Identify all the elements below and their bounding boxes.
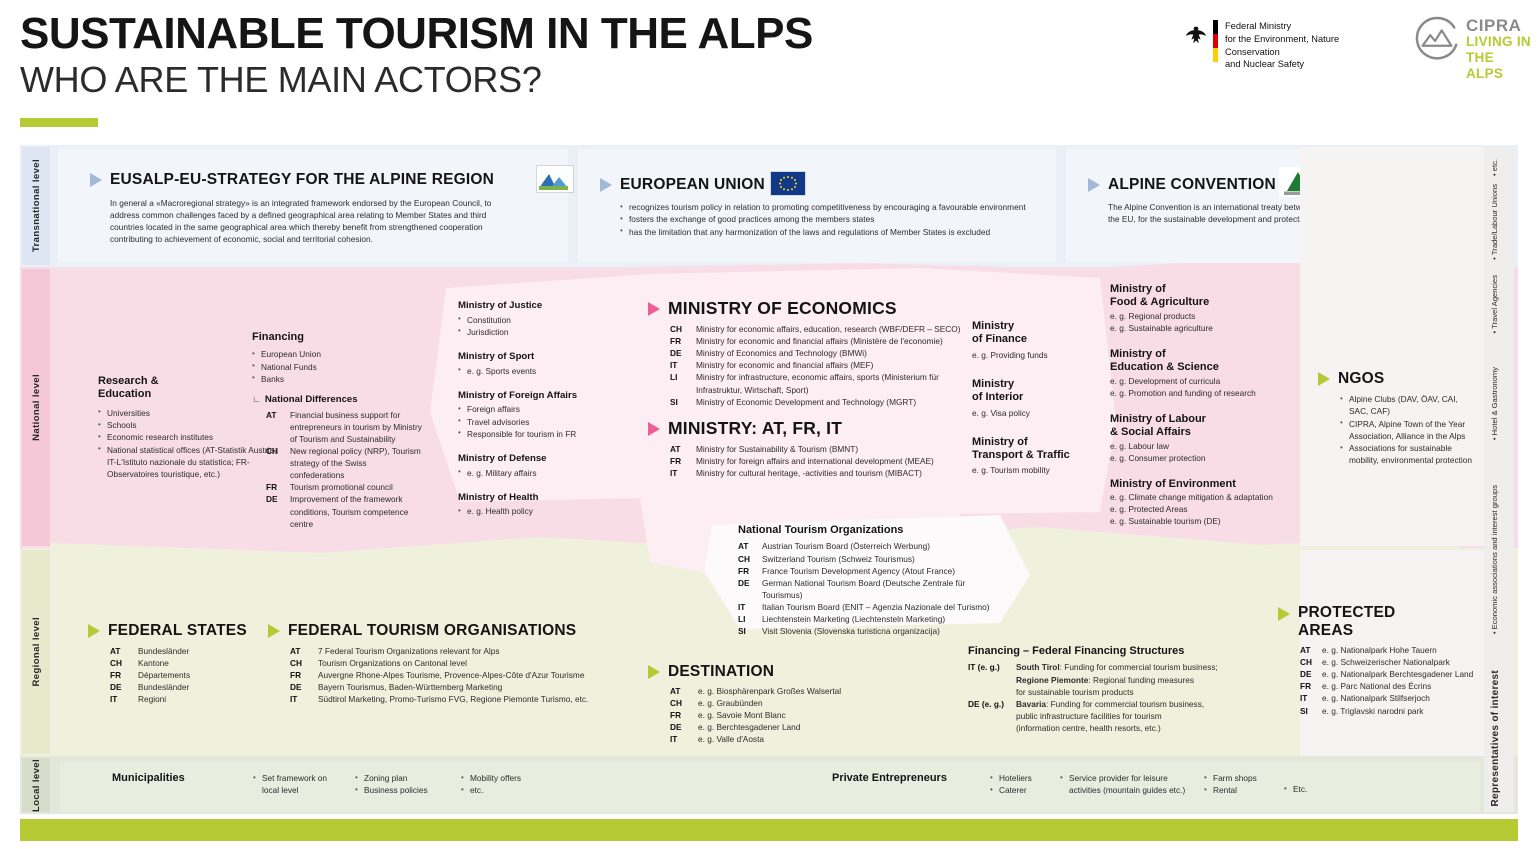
ministry-title: Ministry of Environment bbox=[1110, 478, 1290, 491]
country-text: Italian Tourism Board (ENIT – Agenzia Na… bbox=[762, 601, 998, 613]
ministry-block: Ministry of Interior e. g. Visa policy bbox=[972, 378, 1102, 419]
cipra-mountain-ring-icon bbox=[1412, 16, 1460, 64]
country-text: e. g. Valle d'Aosta bbox=[698, 733, 878, 745]
country-text: Südtirol Marketing, Promo-Turismo FVG, R… bbox=[318, 693, 598, 705]
country-code: AT bbox=[1300, 644, 1322, 656]
table-row: DEe. g. Berchtesgadener Land bbox=[670, 721, 878, 733]
german-flag-bar-icon bbox=[1213, 20, 1218, 62]
ministry-block: Ministry of Environment e. g. Climate ch… bbox=[1110, 478, 1290, 527]
bmu-line3: and Nuclear Safety bbox=[1225, 58, 1385, 71]
ministry-economics-title: MINISTRY OF ECONOMICS bbox=[668, 298, 897, 319]
country-text: Ministry for Sustainability & Tourism (B… bbox=[696, 443, 968, 455]
list-item: Hoteliers bbox=[990, 772, 1042, 784]
ministry-note: e. g. Tourism mobility bbox=[972, 464, 1102, 476]
panel-municipalities: Municipalities Set framework on local le… bbox=[112, 772, 541, 797]
level-tab-transnational: Transnational level bbox=[22, 147, 50, 265]
country-code bbox=[968, 710, 1016, 722]
sidebar-item-etc: • etc. bbox=[1490, 159, 1499, 176]
ministry-note: e. g. Providing funds bbox=[972, 349, 1102, 361]
nto-title: National Tourism Organizations bbox=[738, 524, 998, 537]
table-row: FRDépartements bbox=[110, 669, 268, 681]
ngos-bullets: Alpine Clubs (DAV, ÖAV, CAI, SAC, CAF) C… bbox=[1340, 393, 1478, 467]
table-row: SIMinistry of Economic Development and T… bbox=[670, 396, 968, 408]
table-row: FRAuvergne Rhone-Alpes Tourisme, Provenc… bbox=[290, 669, 598, 681]
financing-differences-title: National Differences bbox=[265, 394, 358, 406]
ministry-note: e. g. Visa policy bbox=[972, 407, 1102, 419]
ministry-note: e. g. Consumer protection bbox=[1110, 452, 1290, 464]
table-row: ATMinistry for Sustainability & Tourism … bbox=[670, 443, 968, 455]
list-item: Zoning plan bbox=[355, 772, 435, 784]
panel-ministry-at-fr-it: MINISTRY: AT, FR, IT ATMinistry for Sust… bbox=[648, 418, 968, 479]
ministry-block: Ministry of Foreign Affairs Foreign affa… bbox=[458, 390, 633, 440]
list-item: Alpine Clubs (DAV, ÖAV, CAI, SAC, CAF) bbox=[1340, 393, 1478, 418]
page-title: SUSTAINABLE TOURISM IN THE ALPS bbox=[20, 12, 813, 56]
municipalities-col-2: Zoning plan Business policies bbox=[355, 772, 435, 797]
ministry-note: e. g. Climate change mitigation & adapta… bbox=[1110, 491, 1290, 503]
country-code: CH bbox=[110, 657, 138, 669]
table-row: FRe. g. Savoie Mont Blanc bbox=[670, 709, 878, 721]
table-row: CHSwitzerland Tourism (Schweiz Tourismus… bbox=[738, 553, 998, 565]
panel-ngos-bg bbox=[1300, 147, 1484, 546]
country-code: CH bbox=[738, 553, 762, 565]
table-row: DEBundesländer bbox=[110, 681, 268, 693]
country-code: FR bbox=[670, 455, 696, 467]
list-item: etc. bbox=[461, 784, 541, 796]
country-text: : Funding for commercial tourism busines… bbox=[1046, 699, 1204, 709]
table-row: CHe. g. Graubünden bbox=[670, 697, 878, 709]
country-code: CH bbox=[1300, 656, 1322, 668]
country-text: German National Tourism Board (Deutsche … bbox=[762, 577, 998, 601]
list-item: has the limitation that any harmonizatio… bbox=[620, 226, 1040, 238]
private-col-2: Service provider for leisure activities … bbox=[1060, 772, 1186, 797]
financing-lead: Bavaria bbox=[1016, 699, 1046, 709]
list-item: National Funds bbox=[252, 361, 422, 373]
ministry-block: Ministry of Transport & Traffic e. g. To… bbox=[972, 436, 1102, 477]
country-text: New regional policy (NRP), Tourism strat… bbox=[290, 445, 422, 481]
country-code: DE bbox=[670, 721, 698, 733]
country-text: : Funding for commercial tourism busines… bbox=[1060, 662, 1218, 672]
destination-title: DESTINATION bbox=[668, 663, 774, 681]
triangle-marker-icon bbox=[1088, 178, 1100, 192]
page-subtitle: WHO ARE THE MAIN ACTORS? bbox=[20, 62, 542, 98]
sidebar-item-hotel-gastronomy: • Hotel & Gastronomy bbox=[1490, 367, 1499, 440]
ministry-block: Ministry of Food & Agriculture e. g. Reg… bbox=[1110, 283, 1290, 334]
country-text: Visit Slovenia (Slovenska turisticna org… bbox=[762, 625, 998, 637]
panel-federal-states: FEDERAL STATES ATBundesländer CHKantone … bbox=[88, 622, 268, 706]
country-text: Bundesländer bbox=[138, 645, 268, 657]
country-code: IT bbox=[670, 733, 698, 745]
table-row: IT (e. g.) South Tirol: Funding for comm… bbox=[968, 661, 1258, 673]
footer-accent-bar bbox=[20, 819, 1518, 841]
table-row: Regione Piemonte: Regional funding measu… bbox=[968, 674, 1258, 686]
country-text: (information centre, health resorts, etc… bbox=[1016, 722, 1258, 734]
table-row: FRMinistry for economic and financial af… bbox=[670, 335, 968, 347]
country-code: SI bbox=[1300, 705, 1322, 717]
triangle-marker-icon bbox=[268, 624, 280, 638]
country-text: e. g. Savoie Mont Blanc bbox=[698, 709, 878, 721]
ministry-title: Ministry of Transport & Traffic bbox=[972, 436, 1102, 463]
country-code: DE (e. g.) bbox=[968, 698, 1016, 710]
country-code: FR bbox=[670, 335, 696, 347]
protected-areas-title: PROTECTED AREAS bbox=[1298, 604, 1395, 640]
country-code: AT bbox=[266, 409, 290, 445]
ministry-note: e. g. Sustainable tourism (DE) bbox=[1110, 515, 1290, 527]
table-row: LIMinistry for infrastructure, economic … bbox=[670, 371, 968, 395]
triangle-marker-icon bbox=[90, 173, 102, 187]
ministry-block: Ministry of Finance e. g. Providing fund… bbox=[972, 320, 1102, 361]
private-col-1: Hoteliers Caterer bbox=[990, 772, 1042, 797]
country-text: Liechtenstein Marketing (Liechtensteln M… bbox=[762, 613, 998, 625]
bmu-line2: for the Environment, Nature Conservation bbox=[1225, 33, 1385, 59]
table-row: CHMinistry for economic affairs, educati… bbox=[670, 323, 968, 335]
page-header: SUSTAINABLE TOURISM IN THE ALPS WHO ARE … bbox=[0, 0, 1538, 140]
level-tab-national-label: National level bbox=[31, 374, 42, 441]
ministry-note: e. g. Development of curricula bbox=[1110, 375, 1290, 387]
eu-flag-icon bbox=[770, 171, 806, 196]
table-row: FRFrance Tourism Development Agency (Ato… bbox=[738, 565, 998, 577]
eusalp-logo-icon bbox=[536, 165, 574, 193]
ministry-title: Ministry of Food & Agriculture bbox=[1110, 283, 1290, 310]
country-code: IT bbox=[1300, 692, 1322, 704]
level-tab-regional: Regional level bbox=[22, 550, 50, 754]
financing-lead: South Tirol bbox=[1016, 662, 1060, 672]
sidebar-item-economic-associations: • Economic associations and interest gro… bbox=[1490, 485, 1499, 634]
country-code: FR bbox=[1300, 680, 1322, 692]
sidebar-title: Representatives of interest bbox=[1490, 670, 1501, 806]
country-text: Ministry for economic and financial affa… bbox=[696, 335, 968, 347]
list-item: Farm shops bbox=[1204, 772, 1266, 784]
country-text: Kantone bbox=[138, 657, 268, 669]
country-text: e. g. Graubünden bbox=[698, 697, 878, 709]
country-code: DE bbox=[110, 681, 138, 693]
list-item: Banks bbox=[252, 373, 422, 385]
table-row: AT7 Federal Tourism Organizations releva… bbox=[290, 645, 598, 657]
list-item: Rental bbox=[1204, 784, 1266, 796]
table-row: ATAustrian Tourism Board (Österreich Wer… bbox=[738, 540, 998, 552]
country-text: Ministry for foreign affairs and interna… bbox=[696, 455, 968, 467]
triangle-marker-icon bbox=[648, 665, 660, 679]
list-item: Etc. bbox=[1284, 783, 1324, 795]
title-accent-rule bbox=[20, 118, 98, 127]
country-code: SI bbox=[738, 625, 762, 637]
ministry-title: Ministry of Education & Science bbox=[1110, 348, 1290, 375]
table-row: ITMinistry for economic and financial af… bbox=[670, 359, 968, 371]
country-code: DE bbox=[290, 681, 318, 693]
municipalities-col-3: Mobility offers etc. bbox=[461, 772, 541, 797]
country-code: DE bbox=[1300, 668, 1322, 680]
table-row: for sustainable tourism products bbox=[968, 686, 1258, 698]
panel-federal-tourism-orgs: FEDERAL TOURISM ORGANISATIONS AT7 Federa… bbox=[268, 622, 598, 706]
country-text: Tourism promotional council bbox=[290, 481, 422, 493]
list-item: fosters the exchange of good practices a… bbox=[620, 213, 1040, 225]
panel-ministry-economics: MINISTRY OF ECONOMICS CHMinistry for eco… bbox=[648, 298, 968, 408]
triangle-marker-icon bbox=[648, 422, 660, 436]
country-text: France Tourism Development Agency (Atout… bbox=[762, 565, 998, 577]
table-row: FR Tourism promotional council bbox=[266, 481, 422, 493]
country-code: CH bbox=[670, 323, 696, 335]
cipra-logo: CIPRA LIVING IN THE ALPS bbox=[1412, 12, 1532, 72]
triangle-marker-icon bbox=[1318, 372, 1330, 386]
list-item: Business policies bbox=[355, 784, 435, 796]
country-text: e. g. Nationalpark Stilfserjoch bbox=[1322, 692, 1488, 704]
financing-bullets: European Union National Funds Banks bbox=[252, 348, 422, 385]
table-row: SIVisit Slovenia (Slovenska turisticna o… bbox=[738, 625, 998, 637]
country-code: AT bbox=[290, 645, 318, 657]
cipra-tagline-2: THE ALPS bbox=[1466, 50, 1532, 82]
private-col-3: Farm shops Rental bbox=[1204, 772, 1266, 797]
country-code: IT bbox=[290, 693, 318, 705]
list-item: Jurisdiction bbox=[458, 326, 633, 338]
list-item: e. g. Health policy bbox=[458, 505, 633, 517]
ngos-title: NGOS bbox=[1338, 370, 1384, 388]
level-tab-national: National level bbox=[22, 269, 50, 546]
triangle-marker-icon bbox=[1278, 607, 1290, 621]
ministry-block: Ministry of Defense e. g. Military affai… bbox=[458, 453, 633, 479]
german-federal-eagle-icon bbox=[1185, 23, 1207, 47]
country-text: for sustainable tourism products bbox=[1016, 686, 1258, 698]
list-item: e. g. Military affairs bbox=[458, 467, 633, 479]
list-item: Set framework on local level bbox=[253, 772, 329, 797]
triangle-marker-icon bbox=[600, 178, 612, 192]
country-text: Départements bbox=[138, 669, 268, 681]
municipalities-title: Municipalities bbox=[112, 772, 227, 785]
list-item: CIPRA, Alpine Town of the Year Associati… bbox=[1340, 418, 1478, 443]
country-code: AT bbox=[670, 443, 696, 455]
country-code: IT bbox=[670, 359, 696, 371]
list-item: Mobility offers bbox=[461, 772, 541, 784]
country-text: e. g. Nationalpark Berchtesgadener Land bbox=[1322, 668, 1488, 680]
financing-title: Financing bbox=[252, 331, 422, 344]
private-col-4: Etc. bbox=[1284, 783, 1324, 795]
country-code: FR bbox=[738, 565, 762, 577]
panel-ngos: NGOS Alpine Clubs (DAV, ÖAV, CAI, SAC, C… bbox=[1318, 370, 1478, 467]
country-code: FR bbox=[110, 669, 138, 681]
table-row: CHKantone bbox=[110, 657, 268, 669]
table-row: DEe. g. Nationalpark Berchtesgadener Lan… bbox=[1300, 668, 1488, 680]
table-row: DEMinistry of Economics and Technology (… bbox=[670, 347, 968, 359]
level-tab-transnational-label: Transnational level bbox=[31, 159, 42, 252]
ministry-note: e. g. Sustainable agriculture bbox=[1110, 322, 1290, 334]
list-item: e. g. Sports events bbox=[458, 365, 633, 377]
list-item: Caterer bbox=[990, 784, 1042, 796]
table-row: ATBundesländer bbox=[110, 645, 268, 657]
country-code: DE bbox=[266, 493, 290, 529]
table-row: DE (e. g.) Bavaria: Funding for commerci… bbox=[968, 698, 1258, 710]
table-row: ITe. g. Nationalpark Stilfserjoch bbox=[1300, 692, 1488, 704]
table-row: ITMinistry for cultural heritage, -activ… bbox=[670, 467, 968, 479]
ministry-title: Ministry of Health bbox=[458, 492, 633, 504]
country-text: Ministry of Economic Development and Tec… bbox=[696, 396, 968, 408]
country-text: Bundesländer bbox=[138, 681, 268, 693]
table-row: public infrastructure facilities for tou… bbox=[968, 710, 1258, 722]
country-code: FR bbox=[670, 709, 698, 721]
ministry-title: Ministry of Defense bbox=[458, 453, 633, 465]
country-text: e. g. Schweizerischer Nationalpark bbox=[1322, 656, 1488, 668]
bmu-logo-text: Federal Ministry for the Environment, Na… bbox=[1225, 20, 1385, 71]
table-row: ITSüdtirol Marketing, Promo-Turismo FVG,… bbox=[290, 693, 598, 705]
country-code: CH bbox=[670, 697, 698, 709]
table-row: FRe. g. Parc National des Écrins bbox=[1300, 680, 1488, 692]
table-row: ATe. g. Nationalpark Hohe Tauern bbox=[1300, 644, 1488, 656]
country-text: : Regional funding measures bbox=[1088, 675, 1194, 685]
panel-european-union: EUROPEAN UNION recognizes tourism policy… bbox=[578, 149, 1056, 263]
country-text: Ministry for infrastructure, economic af… bbox=[696, 371, 968, 395]
ministry-title: Ministry of Foreign Affairs bbox=[458, 390, 633, 402]
panel-private-entrepreneurs: Private Entrepreneurs Hoteliers Caterer … bbox=[832, 772, 1324, 797]
panel-small-ministries: Ministry of Justice Constitution Jurisdi… bbox=[458, 300, 633, 518]
sidebar-item-trade-unions: • Trade/Labour Unions bbox=[1490, 184, 1499, 260]
ministry-block: Ministry of Sport e. g. Sports events bbox=[458, 351, 633, 377]
bmu-logo: Federal Ministry for the Environment, Na… bbox=[1185, 16, 1385, 66]
country-text: Bayern Tourismus, Baden-Württemberg Mark… bbox=[318, 681, 598, 693]
country-code: IT bbox=[670, 467, 696, 479]
ministry-title: Ministry of Sport bbox=[458, 351, 633, 363]
list-item: European Union bbox=[252, 348, 422, 360]
level-tab-regional-label: Regional level bbox=[31, 617, 42, 686]
country-text: 7 Federal Tourism Organizations relevant… bbox=[318, 645, 598, 657]
country-text: e. g. Berchtesgadener Land bbox=[698, 721, 878, 733]
country-code: CH bbox=[290, 657, 318, 669]
country-code: FR bbox=[290, 669, 318, 681]
ministry-note: e. g. Labour law bbox=[1110, 440, 1290, 452]
country-text: Financial business support for entrepren… bbox=[290, 409, 422, 445]
table-row: DEGerman National Tourism Board (Deutsch… bbox=[738, 577, 998, 601]
private-entrepreneurs-title: Private Entrepreneurs bbox=[832, 772, 972, 785]
table-row: (information centre, health resorts, etc… bbox=[968, 722, 1258, 734]
ministry-note: e. g. Protected Areas bbox=[1110, 503, 1290, 515]
ministry-block: Ministry of Education & Science e. g. De… bbox=[1110, 348, 1290, 399]
country-text: Ministry of Economics and Technology (BM… bbox=[696, 347, 968, 359]
country-text: Auvergne Rhone-Alpes Tourisme, Provence-… bbox=[318, 669, 598, 681]
ministry-title: Ministry of Interior bbox=[972, 378, 1102, 405]
country-text: Switzerland Tourism (Schweiz Tourismus) bbox=[762, 553, 998, 565]
country-code bbox=[968, 722, 1016, 734]
panel-middle-ministries: Ministry of Finance e. g. Providing fund… bbox=[972, 320, 1102, 476]
federal-states-title: FEDERAL STATES bbox=[108, 622, 247, 640]
municipalities-col-1: Set framework on local level bbox=[253, 772, 329, 797]
table-row: DEBayern Tourismus, Baden-Württemberg Ma… bbox=[290, 681, 598, 693]
panel-financing: Financing European Union National Funds … bbox=[252, 331, 422, 530]
ministry-note: e. g. Regional products bbox=[1110, 310, 1290, 322]
country-text: e. g. Triglavski narodni park bbox=[1322, 705, 1488, 717]
list-item: Associations for sustainable mobility, e… bbox=[1340, 442, 1478, 467]
country-text: public infrastructure facilities for tou… bbox=[1016, 710, 1258, 722]
table-row: SIe. g. Triglavski narodni park bbox=[1300, 705, 1488, 717]
ministry-block: Ministry of Labour & Social Affairs e. g… bbox=[1110, 413, 1290, 464]
country-code: LI bbox=[738, 613, 762, 625]
country-text: Improvement of the framework conditions,… bbox=[290, 493, 422, 529]
list-item: Travel advisories bbox=[458, 416, 633, 428]
eusalp-body: In general a «Macroregional strategy» is… bbox=[110, 197, 522, 245]
table-row: ITe. g. Valle d'Aosta bbox=[670, 733, 878, 745]
eu-title: EUROPEAN UNION bbox=[620, 176, 765, 194]
ministry-note: e. g. Promotion and funding of research bbox=[1110, 387, 1290, 399]
country-code: AT bbox=[110, 645, 138, 657]
ministry-at-fr-it-title: MINISTRY: AT, FR, IT bbox=[668, 418, 842, 439]
table-row: CHe. g. Schweizerischer Nationalpark bbox=[1300, 656, 1488, 668]
country-code: LI bbox=[670, 371, 696, 395]
table-row: ATe. g. Biosphärenpark Großes Walsertal bbox=[670, 685, 878, 697]
eusalp-title: EUSALP-EU-STRATEGY FOR THE ALPINE REGION bbox=[110, 171, 494, 189]
level-tab-local: Local level bbox=[22, 758, 50, 812]
country-text: Ministry for cultural heritage, -activit… bbox=[696, 467, 968, 479]
country-code: SI bbox=[670, 396, 696, 408]
country-code: AT bbox=[738, 540, 762, 552]
panel-eusalp: EUSALP-EU-STRATEGY FOR THE ALPINE REGION… bbox=[58, 149, 568, 263]
table-row: DE Improvement of the framework conditio… bbox=[266, 493, 422, 529]
sidebar-representatives-of-interest: Representatives of interest • Economic a… bbox=[1484, 147, 1514, 812]
panel-national-tourism-orgs: National Tourism Organizations ATAustria… bbox=[738, 524, 998, 637]
country-code: IT bbox=[738, 601, 762, 613]
ministry-block: Ministry of Justice Constitution Jurisdi… bbox=[458, 300, 633, 338]
table-row: CH New regional policy (NRP), Tourism st… bbox=[266, 445, 422, 481]
federal-tourism-orgs-title: FEDERAL TOURISM ORGANISATIONS bbox=[288, 622, 576, 640]
country-text: Ministry for economic affairs, education… bbox=[696, 323, 968, 335]
ministry-title: Ministry of Labour & Social Affairs bbox=[1110, 413, 1290, 440]
cipra-tagline-1: LIVING IN bbox=[1466, 34, 1532, 50]
country-text: e. g. Nationalpark Hohe Tauern bbox=[1322, 644, 1488, 656]
country-code: DE bbox=[738, 577, 762, 601]
panel-financing-structures: Financing – Federal Financing Structures… bbox=[968, 645, 1258, 734]
country-code bbox=[968, 686, 1016, 698]
sidebar-item-travel-agencies: • Travel Agencies bbox=[1490, 275, 1499, 334]
list-item: Service provider for leisure activities … bbox=[1060, 772, 1186, 797]
eu-bullets: recognizes tourism policy in relation to… bbox=[620, 201, 1040, 238]
table-row: ITItalian Tourism Board (ENIT – Agenzia … bbox=[738, 601, 998, 613]
level-tab-local-label: Local level bbox=[31, 759, 42, 812]
country-code: IT bbox=[110, 693, 138, 705]
cipra-name: CIPRA bbox=[1466, 16, 1521, 36]
list-item: Constitution bbox=[458, 314, 633, 326]
alpine-convention-title: ALPINE CONVENTION bbox=[1108, 176, 1276, 194]
country-text: e. g. Biosphärenpark Großes Walsertal bbox=[698, 685, 878, 697]
table-row: FRMinistry for foreign affairs and inter… bbox=[670, 455, 968, 467]
financing-structures-title: Financing – Federal Financing Structures bbox=[968, 645, 1258, 658]
table-row: LILiechtenstein Marketing (Liechtensteln… bbox=[738, 613, 998, 625]
country-text: Ministry for economic and financial affa… bbox=[696, 359, 968, 371]
country-text: Tourism Organizations on Cantonal level bbox=[318, 657, 598, 669]
country-code: DE bbox=[670, 347, 696, 359]
country-code bbox=[968, 674, 1016, 686]
list-item: recognizes tourism policy in relation to… bbox=[620, 201, 1040, 213]
triangle-marker-icon bbox=[648, 302, 660, 316]
table-row: ITRegioni bbox=[110, 693, 268, 705]
panel-destination: DESTINATION ATe. g. Biosphärenpark Große… bbox=[648, 663, 878, 746]
country-code: IT (e. g.) bbox=[968, 661, 1016, 673]
ministry-title: Ministry of Finance bbox=[972, 320, 1102, 347]
ministry-block: Ministry of Health e. g. Health policy bbox=[458, 492, 633, 518]
country-code: FR bbox=[266, 481, 290, 493]
panel-protected-areas: PROTECTED AREAS ATe. g. Nationalpark Hoh… bbox=[1278, 604, 1488, 717]
triangle-marker-icon bbox=[88, 624, 100, 638]
table-row: AT Financial business support for entrep… bbox=[266, 409, 422, 445]
ministry-title: Ministry of Justice bbox=[458, 300, 633, 312]
panel-right-ministries: Ministry of Food & Agriculture e. g. Reg… bbox=[1110, 283, 1290, 527]
financing-lead: Regione Piemonte bbox=[1016, 675, 1088, 685]
country-text: e. g. Parc National des Écrins bbox=[1322, 680, 1488, 692]
country-code: AT bbox=[670, 685, 698, 697]
list-item: Foreign affairs bbox=[458, 403, 633, 415]
country-code: CH bbox=[266, 445, 290, 481]
corner-arrow-icon: ∟ bbox=[252, 394, 261, 404]
list-item: Responsible for tourism in FR bbox=[458, 428, 633, 440]
country-text: Austrian Tourism Board (Österreich Werbu… bbox=[762, 540, 998, 552]
table-row: CHTourism Organizations on Cantonal leve… bbox=[290, 657, 598, 669]
country-text: Regioni bbox=[138, 693, 268, 705]
cipra-tagline: LIVING IN THE ALPS bbox=[1466, 34, 1532, 82]
bmu-line1: Federal Ministry bbox=[1225, 20, 1385, 33]
